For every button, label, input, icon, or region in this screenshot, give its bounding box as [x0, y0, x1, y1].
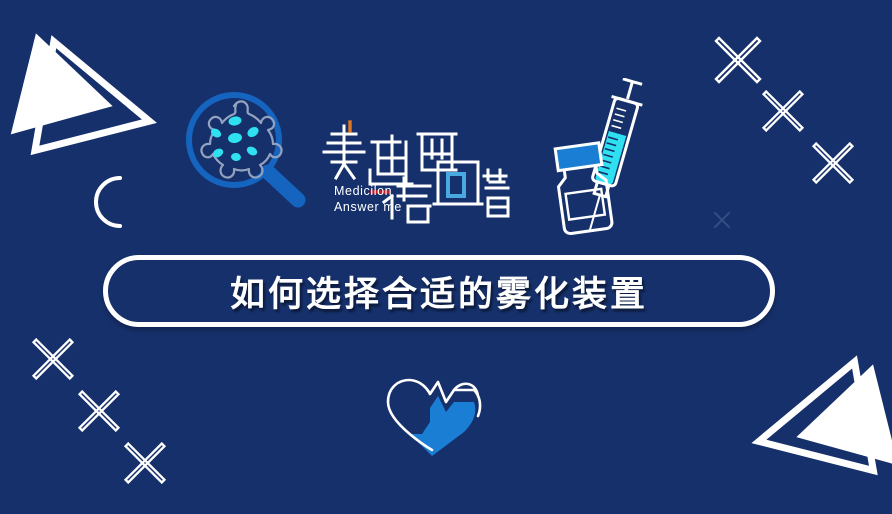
c-arc-decoration: [88, 172, 128, 237]
magnifier-virus-icon: [182, 88, 312, 213]
heart-fill: [410, 396, 475, 456]
logo-char-mei: [324, 126, 364, 178]
logo-latin-brand: Medicilon: [334, 183, 402, 199]
logo-latin-text: Medicilon Answer me: [334, 183, 402, 215]
logo-latin-tagline: Answer me: [334, 199, 402, 215]
syringe-vial-icon: [545, 78, 665, 243]
logo-char-di: [370, 136, 412, 184]
magnifier-handle-icon: [268, 172, 298, 200]
x-mark-faint-center: [712, 210, 732, 230]
x-mark-top-right-1: [712, 34, 764, 86]
virus-spots-icon: [209, 115, 260, 161]
x-mark-bottom-left-2: [76, 388, 122, 434]
heart-ecg-icon: [378, 372, 486, 463]
x-mark-bottom-left-1: [30, 336, 76, 382]
poster-canvas: Medicilon Answer me 如何选择合适的雾化装置: [0, 0, 892, 514]
medicilon-answer-me-logo: Medicilon Answer me: [322, 118, 512, 233]
main-title-text: 如何选择合适的雾化装置: [230, 266, 648, 317]
x-mark-top-right-2: [760, 88, 806, 134]
logo-inner-square: [448, 174, 464, 196]
logo-char-da: [484, 170, 508, 216]
main-title-pill: 如何选择合适的雾化装置: [103, 255, 775, 327]
x-mark-top-right-3: [810, 140, 856, 186]
x-mark-bottom-left-3: [122, 440, 168, 486]
